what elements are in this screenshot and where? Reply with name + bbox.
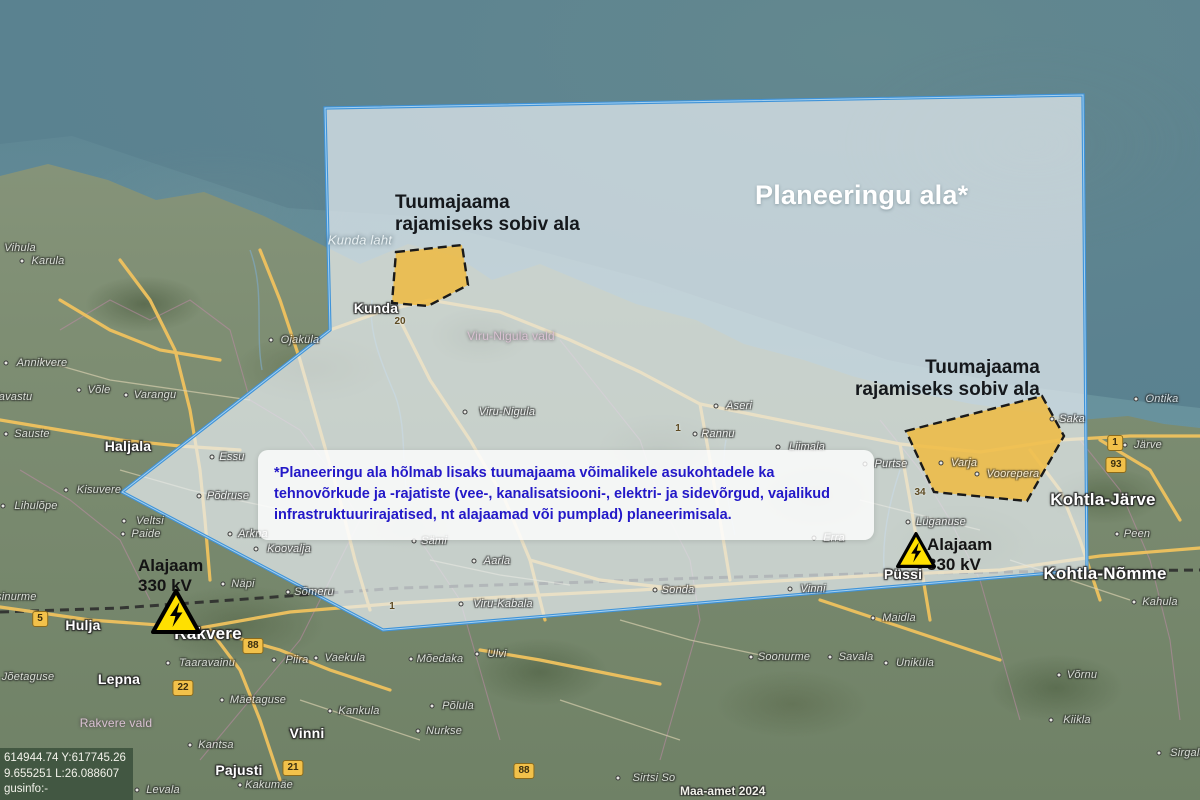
road-shields: 112034931522882188 xyxy=(0,0,1200,800)
footnote-box: *Planeeringu ala hõlmab lisaks tuumajaam… xyxy=(258,450,874,540)
road-shield: 1 xyxy=(1107,435,1123,451)
electrical-hazard-icon xyxy=(151,589,201,634)
map-attribution: Maa-amet 2024 xyxy=(680,784,765,798)
road-shield: 34 xyxy=(910,486,929,500)
road-shield: 93 xyxy=(1105,457,1126,473)
coordinate-readout: 614944.74 Y:617745.26 9.655251 L:26.0886… xyxy=(0,748,133,800)
road-shield: 5 xyxy=(32,611,48,627)
road-shield: 20 xyxy=(390,315,409,329)
electrical-hazard-icon xyxy=(896,532,936,568)
road-shield: 88 xyxy=(513,763,534,779)
substation-label-right: Alajaam 330 kV xyxy=(927,535,992,574)
road-shield: 1 xyxy=(671,422,685,436)
road-shield: 88 xyxy=(242,638,263,654)
map-screenshot: VihulaKarulaAnnikvereVavastuVõleVaranguS… xyxy=(0,0,1200,800)
road-shield: 22 xyxy=(172,680,193,696)
road-shield: 1 xyxy=(385,600,399,614)
road-shield: 21 xyxy=(282,760,303,776)
